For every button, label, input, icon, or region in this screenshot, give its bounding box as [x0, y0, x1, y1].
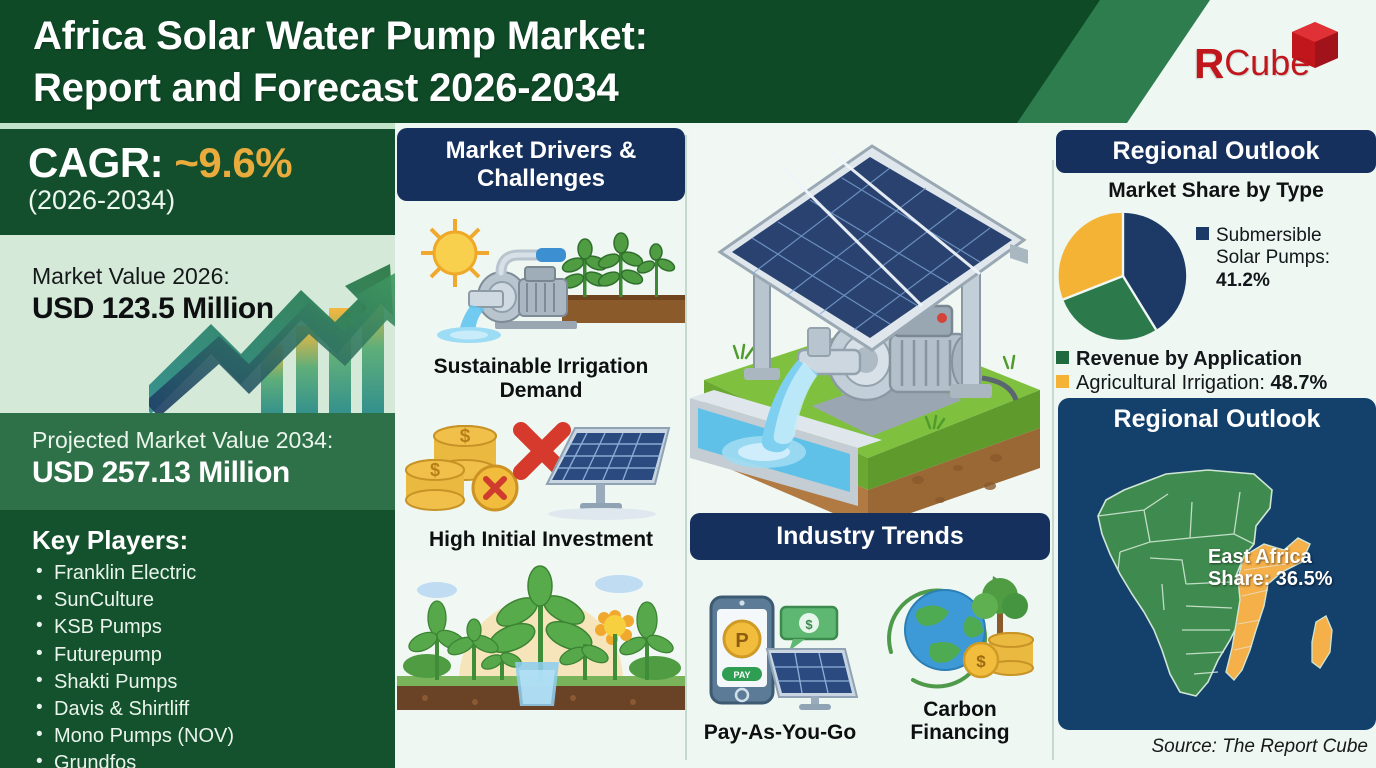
trend-caption-payg: Pay-As-You-Go	[697, 721, 863, 745]
regional-map-card: Regional Outlook	[1058, 398, 1376, 730]
mobile-payment-solar-icon: P PAY $	[697, 589, 863, 714]
right-column: Regional Outlook Market Share by Type Su…	[1056, 130, 1376, 768]
legend-swatch-navy	[1196, 227, 1209, 240]
trend-caption-carbon: Carbon Financing	[877, 698, 1043, 745]
list-item: Grundfos	[32, 750, 395, 768]
map-region-share: Share: 36.5%	[1208, 568, 1373, 590]
projected-value-amount: USD 257.13 Million	[32, 456, 395, 490]
regional-outlook-header: Regional Outlook	[1056, 130, 1376, 173]
legend-value-submersible: 41.2%	[1196, 270, 1330, 292]
legend-label-revenue: Revenue by Application	[1076, 348, 1302, 370]
map-region-name: East Africa	[1208, 546, 1373, 568]
cagr-line: CAGR: ~9.6%	[28, 139, 395, 187]
market-value-panel: Market Value 2026: USD 123.5 Million	[0, 235, 395, 413]
logo[interactable]: ЯCube	[1184, 18, 1354, 98]
high-investment-illustration: $ $	[397, 412, 685, 524]
pie-legend: Submersible Solar Pumps: 41.2%	[1196, 209, 1330, 343]
regional-map-title: Regional Outlook	[1058, 405, 1376, 434]
list-item: KSB Pumps	[32, 614, 395, 641]
center-column: Industry Trends P PAY $	[690, 128, 1050, 768]
industry-trends-header: Industry Trends	[690, 513, 1050, 560]
legend-item-revenue: Revenue by Application	[1056, 348, 1376, 372]
page-title: Africa Solar Water Pump Market: Report a…	[33, 10, 973, 114]
projected-value-panel: Projected Market Value 2034: USD 257.13 …	[0, 413, 395, 510]
svg-text:$: $	[460, 426, 471, 447]
logo-wordmark: ЯCube	[1194, 40, 1310, 88]
solar-pump-irrigation-icon	[397, 205, 685, 351]
pie-chart-subtitle: Market Share by Type	[1056, 179, 1376, 203]
market-drivers-header: Market Drivers & Challenges	[397, 128, 685, 201]
legend-item-submersible: Submersible	[1196, 225, 1330, 247]
logo-cube-word: Cube	[1224, 42, 1310, 83]
legend-label-submersible-line2: Solar Pumps:	[1196, 247, 1330, 269]
pie-chart-icon	[1056, 209, 1190, 343]
legend-swatch-green	[1056, 351, 1069, 364]
sustainable-irrigation-illustration	[397, 205, 685, 351]
column-divider-right	[1052, 160, 1054, 760]
projected-value-label: Projected Market Value 2034:	[32, 427, 395, 454]
legend-item-agriculture: Agricultural Irrigation: 48.7%	[1056, 372, 1376, 396]
trend-caption-carbon-line1: Carbon	[923, 698, 997, 721]
column-divider-center	[685, 135, 687, 760]
logo-r-glyph: Я	[1194, 40, 1224, 88]
crops-growing-illustration	[397, 560, 685, 710]
key-players-panel: Key Players: Franklin Electric SunCultur…	[0, 510, 395, 768]
pie-legend-secondary: Revenue by Application Agricultural Irri…	[1056, 348, 1376, 395]
legend-label-agriculture: Agricultural Irrigation:	[1076, 372, 1271, 394]
svg-text:$: $	[430, 460, 440, 480]
industry-trends-row: P PAY $	[690, 566, 1050, 745]
infographic-root: Africa Solar Water Pump Market: Report a…	[0, 0, 1376, 768]
list-item: Mono Pumps (NOV)	[32, 723, 395, 750]
trend-caption-payg-line1: Pay-As-You-Go	[704, 721, 856, 744]
map-region-label: East Africa Share: 36.5%	[1208, 546, 1373, 591]
driver-1-caption: Sustainable Irrigation Demand	[397, 355, 685, 402]
source-credit: Source: The Report Cube	[1056, 736, 1374, 758]
cagr-value: ~9.6%	[174, 139, 292, 186]
market-drivers-title-line2: Challenges	[477, 165, 605, 192]
svg-text:$: $	[976, 652, 986, 671]
growth-arrow-chart-icon	[149, 242, 395, 413]
market-share-pie-chart: Submersible Solar Pumps: 41.2%	[1056, 209, 1376, 343]
page-title-line2: Report and Forecast 2026-2034	[33, 62, 973, 114]
left-column: CAGR: ~9.6% (2026-2034) Market Value 202…	[0, 123, 395, 768]
svg-text:P: P	[735, 630, 748, 652]
list-item: Shakti Pumps	[32, 669, 395, 696]
cagr-panel: CAGR: ~9.6% (2026-2034)	[0, 129, 395, 235]
trend-item-payg: P PAY $	[697, 589, 863, 745]
list-item: Davis & Shirtliff	[32, 696, 395, 723]
driver-1-caption-line2: Demand	[500, 379, 583, 402]
trend-item-carbon: $ Carbon Financing	[877, 566, 1043, 745]
svg-text:PAY: PAY	[733, 670, 750, 680]
legend-value-agriculture: 48.7%	[1271, 372, 1328, 394]
globe-tree-coins-icon: $	[877, 566, 1043, 691]
list-item: Franklin Electric	[32, 560, 395, 587]
solar-water-pump-illustration	[690, 128, 1050, 513]
svg-text:$: $	[805, 617, 813, 632]
page-title-line1: Africa Solar Water Pump Market:	[33, 10, 973, 62]
list-item: SunCulture	[32, 587, 395, 614]
hero-illustration	[690, 128, 1050, 513]
cagr-period: (2026-2034)	[28, 185, 395, 216]
key-players-title: Key Players:	[32, 525, 395, 556]
key-players-list: Franklin Electric SunCulture KSB Pumps F…	[32, 560, 395, 768]
crops-growing-icon	[397, 560, 685, 710]
market-drivers-column: Market Drivers & Challenges	[397, 128, 685, 768]
market-drivers-title-line1: Market Drivers &	[446, 137, 637, 164]
cagr-label: CAGR:	[28, 139, 163, 186]
list-item: Futurepump	[32, 642, 395, 669]
header: Africa Solar Water Pump Market: Report a…	[0, 0, 1376, 123]
coins-cross-solar-panel-icon: $ $	[397, 412, 685, 524]
trend-caption-carbon-line2: Financing	[910, 721, 1009, 744]
legend-label-submersible-line1: Submersible	[1216, 225, 1322, 246]
driver-1-caption-line1: Sustainable Irrigation	[434, 355, 649, 378]
driver-2-caption: High Initial Investment	[397, 528, 685, 552]
legend-swatch-orange	[1056, 375, 1069, 388]
